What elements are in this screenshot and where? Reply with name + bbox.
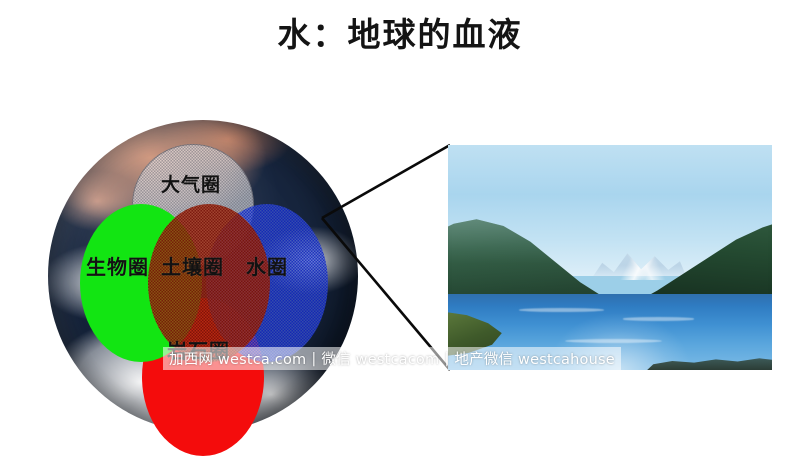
venn-label-soil: 土壤圈 — [161, 251, 224, 280]
page-title: 水：地球的血液 — [0, 8, 800, 56]
callout-connector — [300, 130, 470, 385]
callout-line-upper — [322, 145, 450, 218]
photo-ripple — [519, 308, 603, 312]
venn-label-lithosphere: 岩石圈 — [167, 335, 230, 364]
lake-photo — [448, 145, 772, 370]
photo-ripple — [623, 317, 694, 320]
slide-canvas: 水：地球的血液 大气圈 生物圈 土壤圈 水圈 岩石圈 加西网 w — [0, 0, 800, 465]
venn-label-biosphere: 生物圈 — [86, 251, 149, 280]
callout-line-lower — [322, 218, 450, 370]
venn-label-atmosphere: 大气圈 — [161, 170, 221, 197]
photo-ripple — [565, 339, 662, 343]
venn-label-hydrosphere: 水圈 — [246, 251, 288, 280]
